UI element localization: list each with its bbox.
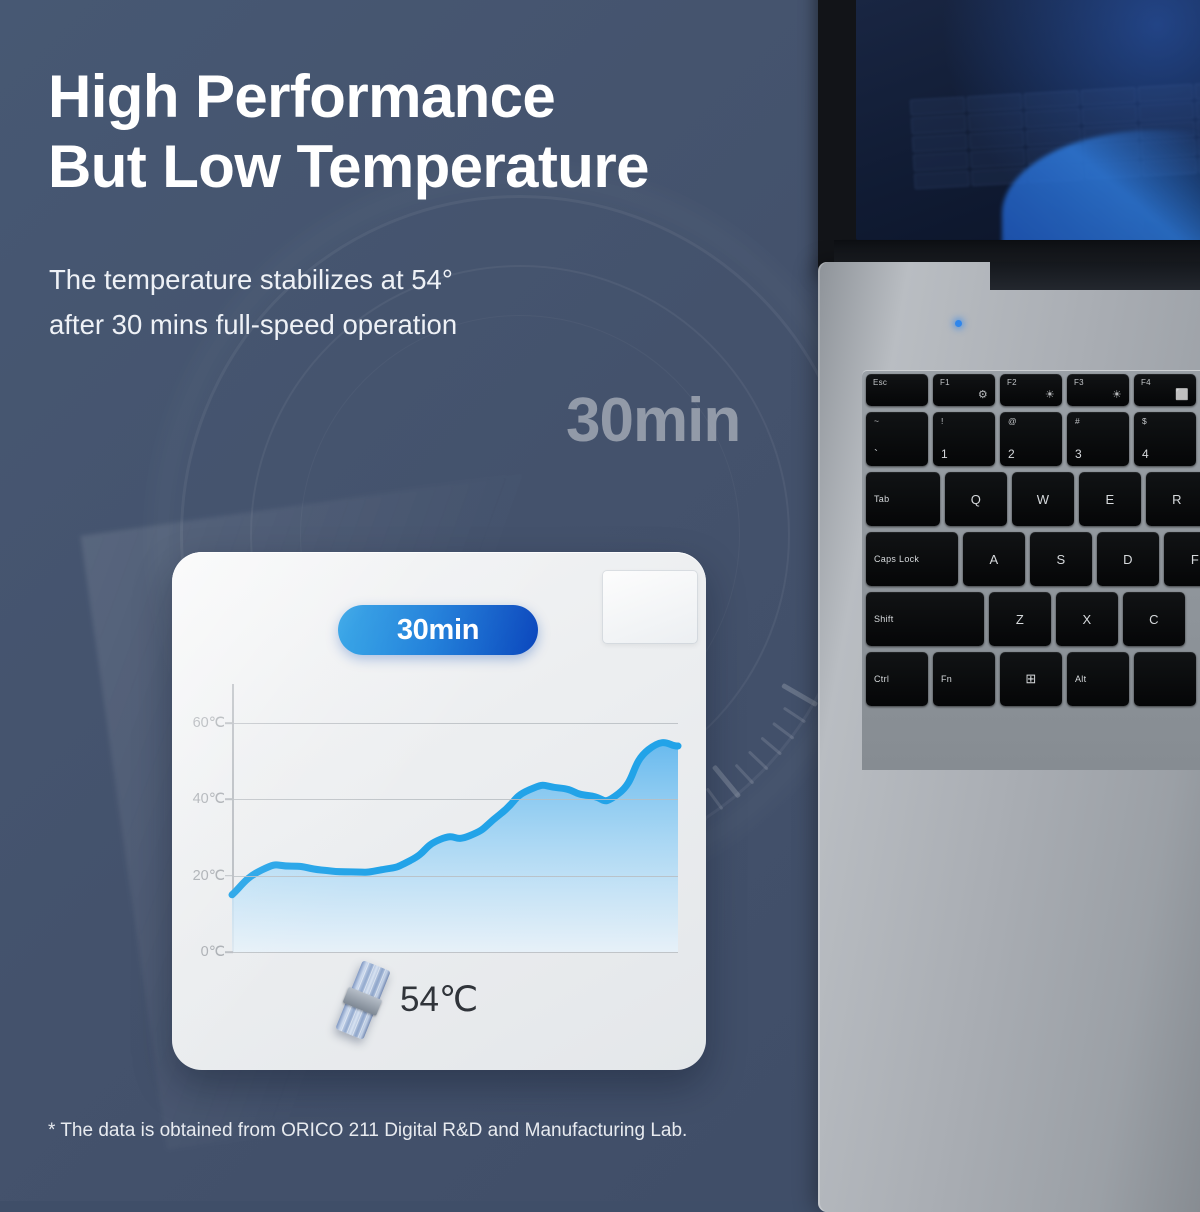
- key-label: ⊞: [1025, 671, 1036, 687]
- wallpaper-key: [1194, 81, 1200, 100]
- wallpaper-key: [912, 133, 968, 152]
- chart-y-tick: [225, 951, 233, 953]
- key-label: F: [1191, 552, 1199, 567]
- chart-gridline: [232, 799, 678, 800]
- device-temperature-readout-row: 54℃: [348, 960, 598, 1040]
- key-f3[interactable]: F3☀: [1067, 374, 1129, 406]
- dial-tick: [748, 750, 769, 770]
- wallpaper-key: [1080, 87, 1136, 106]
- keyboard-row: ~`!1@2#3$4: [866, 412, 1200, 466]
- key-base-label: `: [874, 447, 878, 461]
- key-base-label: 4: [1142, 447, 1149, 461]
- key-label: Fn: [941, 674, 952, 684]
- wallpaper-key: [1137, 84, 1193, 103]
- wallpaper-key: [1024, 90, 1080, 109]
- dial-tick: [706, 787, 724, 810]
- ssd-enclosure-icon: [335, 960, 391, 1040]
- key-label: Q: [971, 492, 981, 507]
- key-3[interactable]: #3: [1067, 412, 1129, 466]
- key-x[interactable]: X: [1056, 592, 1118, 646]
- key-caps-lock[interactable]: Caps Lock: [866, 532, 958, 586]
- chart-y-label: 20℃: [193, 868, 225, 884]
- key-shift[interactable]: Shift: [866, 592, 984, 646]
- chart-y-label: 40℃: [193, 791, 225, 807]
- key--[interactable]: ~`: [866, 412, 928, 466]
- key-shift-label: @: [1008, 416, 1017, 426]
- duration-badge: 30min: [338, 605, 538, 655]
- key-esc[interactable]: Esc: [866, 374, 928, 406]
- data-source-footnote: * The data is obtained from ORICO 211 Di…: [48, 1120, 908, 1142]
- key-fn-label: F1: [940, 378, 950, 387]
- chart-y-tick: [225, 875, 233, 877]
- key-shift-label: !: [941, 416, 944, 426]
- chart-y-label: 60℃: [193, 715, 225, 731]
- temperature-chart: 60℃40℃20℃0℃: [232, 704, 678, 952]
- wallpaper-key: [969, 130, 1025, 149]
- key-d[interactable]: D: [1097, 532, 1159, 586]
- headline-line-1: High Performance: [48, 63, 555, 130]
- key-fn[interactable]: Fn: [933, 652, 995, 706]
- key-shift-label: #: [1075, 416, 1080, 426]
- chart-y-label: 0℃: [201, 944, 225, 960]
- key-label: C: [1149, 612, 1159, 627]
- key-label: X: [1083, 612, 1092, 627]
- key-e[interactable]: E: [1079, 472, 1141, 526]
- key-label: E: [1106, 492, 1115, 507]
- keyboard-row: CtrlFn⊞Alt: [866, 652, 1200, 706]
- key-c[interactable]: C: [1123, 592, 1185, 646]
- key-base-label: 3: [1075, 447, 1082, 461]
- key-label: Z: [1016, 612, 1024, 627]
- key-fn-symbol: ☀: [1112, 388, 1122, 401]
- key-base-label: 2: [1008, 447, 1015, 461]
- key-label: D: [1123, 552, 1133, 567]
- chart-y-tick: [225, 722, 233, 724]
- wallpaper-key: [1082, 105, 1138, 124]
- key-ctrl[interactable]: Ctrl: [866, 652, 928, 706]
- headline-line-2: But Low Temperature: [48, 133, 649, 200]
- laptop-illustration: EscF1⚙F2☀F3☀F4⬜~`!1@2#3$4TabQWERCaps Loc…: [800, 0, 1200, 1201]
- power-led-indicator: [955, 320, 962, 327]
- laptop-base-notch: [990, 262, 1200, 290]
- key-f4[interactable]: F4⬜: [1134, 374, 1196, 406]
- key-label: Tab: [874, 494, 889, 504]
- key-z[interactable]: Z: [989, 592, 1051, 646]
- key--[interactable]: ⊞: [1000, 652, 1062, 706]
- key-label: R: [1172, 492, 1182, 507]
- wallpaper-key: [1025, 108, 1081, 127]
- dial-tick: [735, 764, 755, 785]
- laptop-keyboard: EscF1⚙F2☀F3☀F4⬜~`!1@2#3$4TabQWERCaps Loc…: [862, 370, 1200, 770]
- key-label: Caps Lock: [874, 554, 919, 564]
- keyboard-row: EscF1⚙F2☀F3☀F4⬜: [866, 374, 1200, 406]
- keyboard-row: Caps LockASDF: [866, 532, 1200, 586]
- key-fn-symbol: ⬜: [1175, 388, 1189, 401]
- key-q[interactable]: Q: [945, 472, 1007, 526]
- key-1[interactable]: !1: [933, 412, 995, 466]
- wallpaper-key: [910, 96, 966, 115]
- chart-gridline: [232, 723, 678, 724]
- temperature-chart-card: 30min 60℃40℃20℃0℃ 54℃: [172, 552, 706, 1070]
- key-label: Ctrl: [874, 674, 889, 684]
- key-fn-symbol: ⚙: [978, 388, 988, 401]
- subtitle-line-2: after 30 mins full-speed operation: [49, 309, 457, 340]
- subtitle-line-1: The temperature stabilizes at 54°: [49, 264, 453, 295]
- wallpaper-key: [970, 148, 1026, 167]
- key-base-label: 1: [941, 447, 948, 461]
- chart-gridline: [232, 876, 678, 877]
- subtitle: The temperature stabilizes at 54° after …: [49, 258, 699, 347]
- wallpaper-key: [1195, 99, 1200, 118]
- usb-connector-graphic: [602, 570, 698, 644]
- page-title: High Performance But Low Temperature: [48, 62, 768, 201]
- key-fn-symbol: ☀: [1045, 388, 1055, 401]
- key-label: Shift: [874, 614, 894, 624]
- key-fn-label: F2: [1007, 378, 1017, 387]
- key-f1[interactable]: F1⚙: [933, 374, 995, 406]
- dial-tick: [760, 737, 782, 756]
- chart-gridline: [232, 952, 678, 953]
- key-fn-label: F4: [1141, 378, 1151, 387]
- duration-watermark: 30min: [566, 385, 740, 456]
- key-label: A: [990, 552, 999, 567]
- key-shift-label: ~: [874, 416, 879, 426]
- keyboard-row: ShiftZXC: [866, 592, 1200, 646]
- key-f[interactable]: F: [1164, 532, 1200, 586]
- wallpaper-key: [914, 170, 970, 189]
- key-label: Alt: [1075, 674, 1086, 684]
- key-a[interactable]: A: [963, 532, 1025, 586]
- key-w[interactable]: W: [1012, 472, 1074, 526]
- key-tab[interactable]: Tab: [866, 472, 940, 526]
- dial-tick: [712, 765, 741, 799]
- key-shift-label: $: [1142, 416, 1147, 426]
- chart-y-tick: [225, 799, 233, 801]
- key-f2[interactable]: F2☀: [1000, 374, 1062, 406]
- wallpaper-key: [913, 152, 969, 171]
- wallpaper-key: [1138, 102, 1194, 121]
- keyboard-row: TabQWER: [866, 472, 1200, 526]
- wallpaper-key: [968, 112, 1024, 131]
- key-2[interactable]: @2: [1000, 412, 1062, 466]
- key-key[interactable]: [1134, 652, 1196, 706]
- key-fn-label: F3: [1074, 378, 1084, 387]
- key-fn-label: Esc: [873, 378, 887, 387]
- chart-curve: [232, 650, 678, 952]
- key-label: S: [1057, 552, 1066, 567]
- dial-tick: [772, 722, 795, 740]
- laptop-lid: [818, 0, 1200, 278]
- wallpaper-key: [911, 115, 967, 134]
- laptop-screen: [856, 0, 1200, 240]
- key-label: W: [1037, 492, 1050, 507]
- key-s[interactable]: S: [1030, 532, 1092, 586]
- key-4[interactable]: $4: [1134, 412, 1196, 466]
- key-alt[interactable]: Alt: [1067, 652, 1129, 706]
- key-r[interactable]: R: [1146, 472, 1200, 526]
- temperature-value: 54℃: [400, 980, 478, 1020]
- wallpaper-key: [967, 93, 1023, 112]
